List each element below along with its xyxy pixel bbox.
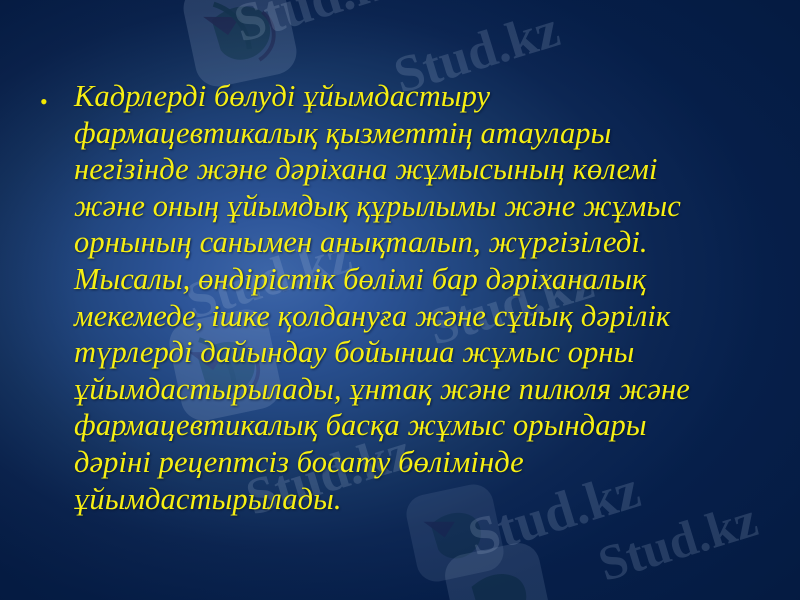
slide-content: • Кадрлерді бөлуді ұйымдастыру фармацевт… <box>0 0 800 600</box>
bullet-list-item: • Кадрлерді бөлуді ұйымдастыру фармацевт… <box>40 78 760 517</box>
bullet-paragraph-text: Кадрлерді бөлуді ұйымдастыру фармацевтик… <box>74 78 760 517</box>
presentation-slide: Stud.kz Stud.kz Stud.kz Stud.kz Stud.kz … <box>0 0 800 600</box>
bullet-marker: • <box>40 78 74 113</box>
